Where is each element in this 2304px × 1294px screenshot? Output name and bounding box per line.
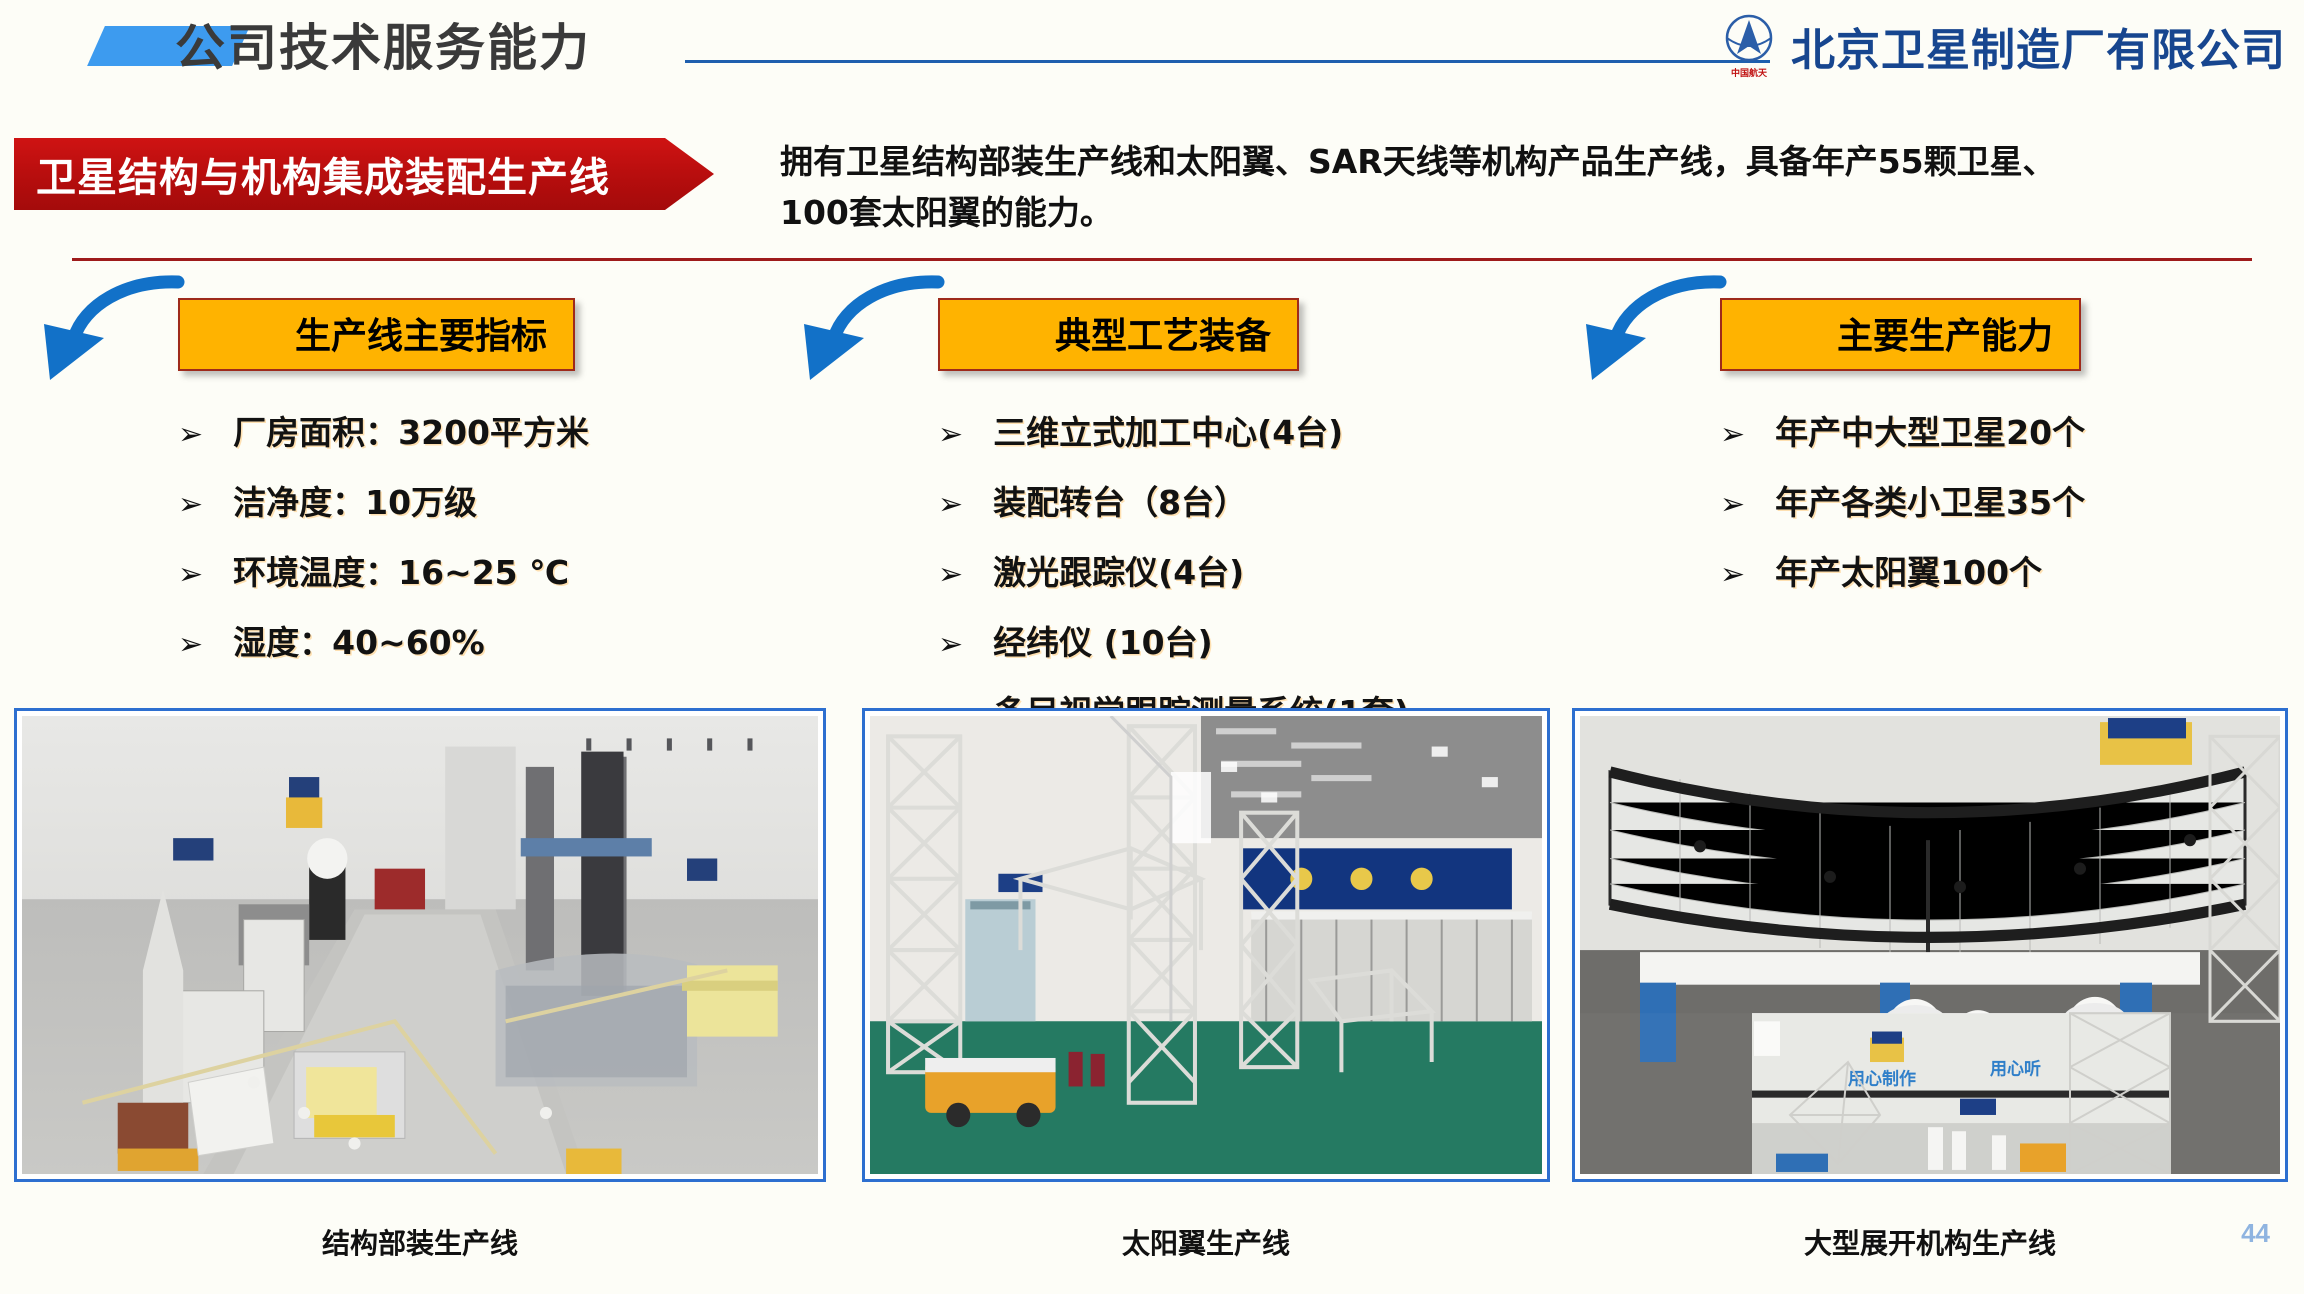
column-2-list: ➢三维立式加工中心(4台) ➢装配转台（8台） ➢激光跟踪仪(4台) ➢经纬仪 … (938, 406, 1409, 756)
list-item: ➢激光跟踪仪(4台) (938, 546, 1409, 594)
list-item: ➢年产各类小卫星35个 (1720, 476, 2085, 524)
section-banner: 卫星结构与机构集成装配生产线 (14, 138, 714, 210)
description-line-1: 拥有卫星结构部装生产线和太阳翼、SAR天线等机构产品生产线，具备年产55颗卫星、 (780, 136, 2285, 187)
photo-caption-1: 结构部装生产线 (14, 1222, 826, 1262)
photo-structure-assembly-line (22, 716, 818, 1174)
list-item: ➢三维立式加工中心(4台) (938, 406, 1409, 454)
list-item-label: 年产各类小卫星35个 (1775, 476, 2085, 524)
photo-deployable-mechanism-line: 用心制作用心听 (1580, 716, 2280, 1174)
list-item: ➢装配转台（8台） (938, 476, 1409, 524)
svg-text:用心听: 用心听 (1990, 1058, 2041, 1079)
list-item: ➢年产太阳翼100个 (1720, 546, 2085, 594)
bullet-marker-icon: ➢ (1720, 487, 1745, 522)
list-item: ➢湿度：40~60% (178, 616, 589, 664)
list-item-label: 厂房面积：3200平方米 (233, 406, 589, 454)
list-item-label: 经纬仪 (10台) (993, 616, 1213, 664)
list-item-label: 年产太阳翼100个 (1775, 546, 2042, 594)
list-item-label: 年产中大型卫星20个 (1775, 406, 2085, 454)
bullet-marker-icon: ➢ (1720, 557, 1745, 592)
slide-header: 公司技术服务能力 中国航天 北京卫星制造厂有限公司 (0, 0, 2304, 96)
column-1-list: ➢厂房面积：3200平方米 ➢洁净度：10万级 ➢环境温度：16~25 ℃ ➢湿… (178, 406, 589, 686)
header-divider-line (685, 60, 1770, 63)
section-description: 拥有卫星结构部装生产线和太阳翼、SAR天线等机构产品生产线，具备年产55颗卫星、… (780, 136, 2285, 238)
photo-solar-wing-line (870, 716, 1542, 1174)
bullet-marker-icon: ➢ (938, 487, 963, 522)
page-title: 公司技术服务能力 (175, 8, 591, 80)
list-item-label: 湿度：40~60% (233, 616, 485, 664)
column-1-title: 生产线主要指标 (178, 298, 575, 371)
list-item: ➢经纬仪 (10台) (938, 616, 1409, 664)
bullet-marker-icon: ➢ (178, 417, 203, 452)
column-3-list: ➢年产中大型卫星20个 ➢年产各类小卫星35个 ➢年产太阳翼100个 (1720, 406, 2085, 616)
slide-root: 公司技术服务能力 中国航天 北京卫星制造厂有限公司 卫星结构与机构集成装配生产线… (0, 0, 2304, 1294)
horizontal-divider (72, 258, 2252, 261)
description-line-2: 100套太阳翼的能力。 (780, 187, 2285, 238)
section-banner-label: 卫星结构与机构集成装配生产线 (14, 145, 610, 203)
company-name: 北京卫星制造厂有限公司 (1791, 14, 2286, 78)
photo-frame-solar-wing-line (862, 708, 1550, 1182)
bullet-marker-icon: ➢ (938, 557, 963, 592)
photo-caption-3: 大型展开机构生产线 (1572, 1222, 2288, 1262)
bullet-marker-icon: ➢ (178, 557, 203, 592)
list-item-label: 环境温度：16~25 ℃ (233, 546, 569, 594)
list-item-label: 装配转台（8台） (993, 476, 1247, 524)
list-item: ➢年产中大型卫星20个 (1720, 406, 2085, 454)
list-item: ➢环境温度：16~25 ℃ (178, 546, 589, 594)
casc-logo-icon: 中国航天 (1721, 12, 1781, 80)
list-item: ➢厂房面积：3200平方米 (178, 406, 589, 454)
list-item-label: 激光跟踪仪(4台) (993, 546, 1244, 594)
list-item-label: 三维立式加工中心(4台) (993, 406, 1343, 454)
column-3-title: 主要生产能力 (1720, 298, 2081, 371)
photo-frame-structure-line (14, 708, 826, 1182)
logo-sub-text: 中国航天 (1731, 67, 1768, 79)
bullet-marker-icon: ➢ (1720, 417, 1745, 452)
bullet-marker-icon: ➢ (938, 417, 963, 452)
bullet-marker-icon: ➢ (938, 627, 963, 662)
column-2-title: 典型工艺装备 (938, 298, 1299, 371)
photo-caption-2: 太阳翼生产线 (862, 1222, 1550, 1262)
company-logo-block: 中国航天 北京卫星制造厂有限公司 (1721, 12, 2286, 80)
list-item: ➢洁净度：10万级 (178, 476, 589, 524)
photo-frame-deployable-line: 用心制作用心听 (1572, 708, 2288, 1182)
page-number: 44 (2241, 1218, 2270, 1249)
bullet-marker-icon: ➢ (178, 487, 203, 522)
bullet-marker-icon: ➢ (178, 627, 203, 662)
list-item-label: 洁净度：10万级 (233, 476, 477, 524)
